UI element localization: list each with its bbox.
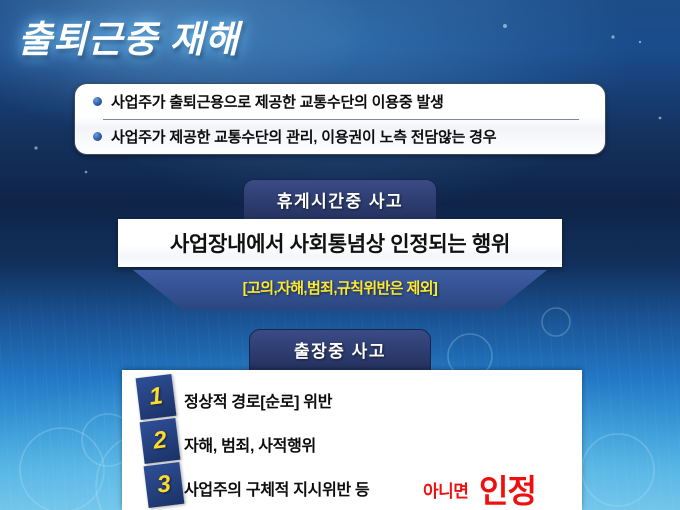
conclusion-emphasis-text: 인정	[479, 466, 536, 510]
bullet-dot-icon	[93, 97, 102, 106]
trip-item-text-3: 사업주의 구체적 지시위반 등	[184, 476, 369, 500]
number-badge-2: 2	[140, 418, 181, 464]
conclusion-prefix-text: 아니면	[423, 477, 468, 502]
trip-conditions-panel: 1 정상적 경로[순로] 위반 2 자해, 범죄, 사적행위 3 사업주의 구체…	[122, 370, 582, 510]
number-badge-1: 1	[136, 374, 177, 420]
bullet-text: 사업주가 출퇴근용으로 제공한 교통수단의 이용중 발생	[111, 91, 444, 112]
list-item: 사업주가 제공한 교통수단의 관리, 이용권이 노측 전담않는 경우	[89, 120, 591, 154]
rest-statement-text: 사업장내에서 사회통념상 인정되는 행위	[170, 228, 510, 258]
slide-root: 출퇴근중 재해 사업주가 출퇴근용으로 제공한 교통수단의 이용중 발생 사업주…	[0, 0, 680, 510]
bullet-dot-icon	[93, 132, 102, 141]
trip-item-text-1: 정상적 경로[순로] 위반	[184, 388, 332, 412]
trip-item-text-2: 자해, 범죄, 사적행위	[184, 432, 316, 456]
number-badge-3: 3	[144, 462, 185, 508]
rest-exception-ribbon: [고의,자해,범죄,규칙위반은 제외]	[133, 270, 547, 310]
list-item: 사업주가 출퇴근용으로 제공한 교통수단의 이용중 발생	[89, 85, 591, 119]
rest-statement-panel: 사업장내에서 사회통념상 인정되는 행위	[118, 219, 562, 267]
rest-exception-text: [고의,자해,범죄,규칙위반은 제외]	[243, 277, 438, 298]
tab-rest-time-accident[interactable]: 휴게시간중 사고	[243, 179, 437, 221]
tab-business-trip-accident[interactable]: 출장중 사고	[249, 329, 431, 371]
bullet-text: 사업주가 제공한 교통수단의 관리, 이용권이 노측 전담않는 경우	[111, 126, 496, 147]
bullet-card: 사업주가 출퇴근용으로 제공한 교통수단의 이용중 발생 사업주가 제공한 교통…	[74, 83, 606, 155]
page-title: 출퇴근중 재해	[18, 9, 240, 63]
